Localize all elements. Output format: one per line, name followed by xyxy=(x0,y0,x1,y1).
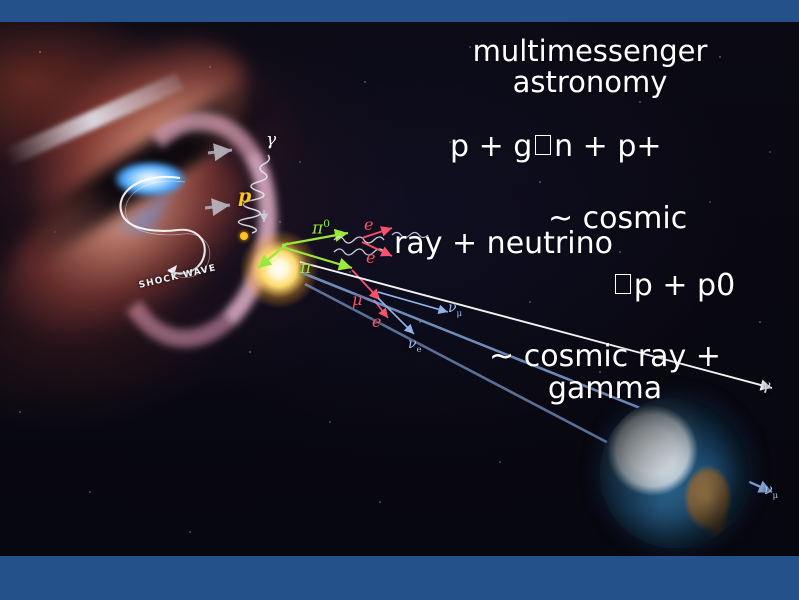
pi-zero-symbol: π xyxy=(312,219,323,239)
electron-label-3: e xyxy=(372,312,381,331)
gamma-label-source: γ xyxy=(266,130,276,150)
equation-line-1-right: n + p+ xyxy=(554,129,661,164)
muon-label: μ xyxy=(352,290,362,309)
equation-line-3: p + p0 xyxy=(612,270,735,302)
electron-label-2: e xyxy=(366,248,375,267)
neutrino-mu-earth-symbol: ν xyxy=(764,482,773,498)
neutrino-e-label: νe xyxy=(408,336,422,355)
equation-line-1-left: p + g xyxy=(450,129,532,164)
neutrino-e-symbol: ν xyxy=(408,336,417,352)
neutrino-mu-symbol: ν xyxy=(448,300,457,316)
pi-zero-label: π0 xyxy=(312,218,330,239)
proton-dot xyxy=(240,232,248,240)
slide-title: multimessenger astronomy xyxy=(420,36,760,97)
equation-line-2-bottom: ray + neutrino xyxy=(394,228,613,260)
neutrino-mu-earth-subscript: μ xyxy=(773,491,779,501)
pi-charged-label: π xyxy=(300,258,311,278)
earth-terminator-shadow xyxy=(600,398,750,548)
equation-line-4: ~ cosmic ray + gamma xyxy=(460,341,750,405)
neutrino-mu-subscript: μ xyxy=(457,309,463,319)
neutrino-e-subscript: e xyxy=(417,345,422,355)
missing-glyph-arrow-1 xyxy=(535,135,551,156)
gamma-label-earth: γ xyxy=(762,378,770,394)
equation-line-3-text: p + p0 xyxy=(634,268,735,303)
missing-glyph-arrow-2 xyxy=(615,274,631,295)
top-brand-bar xyxy=(0,0,799,22)
bottom-brand-bar xyxy=(0,556,799,600)
slide-title-line-1: multimessenger xyxy=(420,36,760,67)
electron-label-1: e xyxy=(364,215,373,234)
slide-title-line-2: astronomy xyxy=(420,67,760,98)
pi-zero-superscript: 0 xyxy=(323,218,330,230)
neutrino-mu-label: νμ xyxy=(448,300,462,319)
equation-line-1: p + gn + p+ xyxy=(450,131,662,163)
presentation-slide: SHOCK WAVE xyxy=(0,0,799,600)
neutrino-mu-label-earth: νμ xyxy=(764,482,778,501)
proton-label: p xyxy=(238,185,251,207)
earth-globe xyxy=(600,398,750,548)
